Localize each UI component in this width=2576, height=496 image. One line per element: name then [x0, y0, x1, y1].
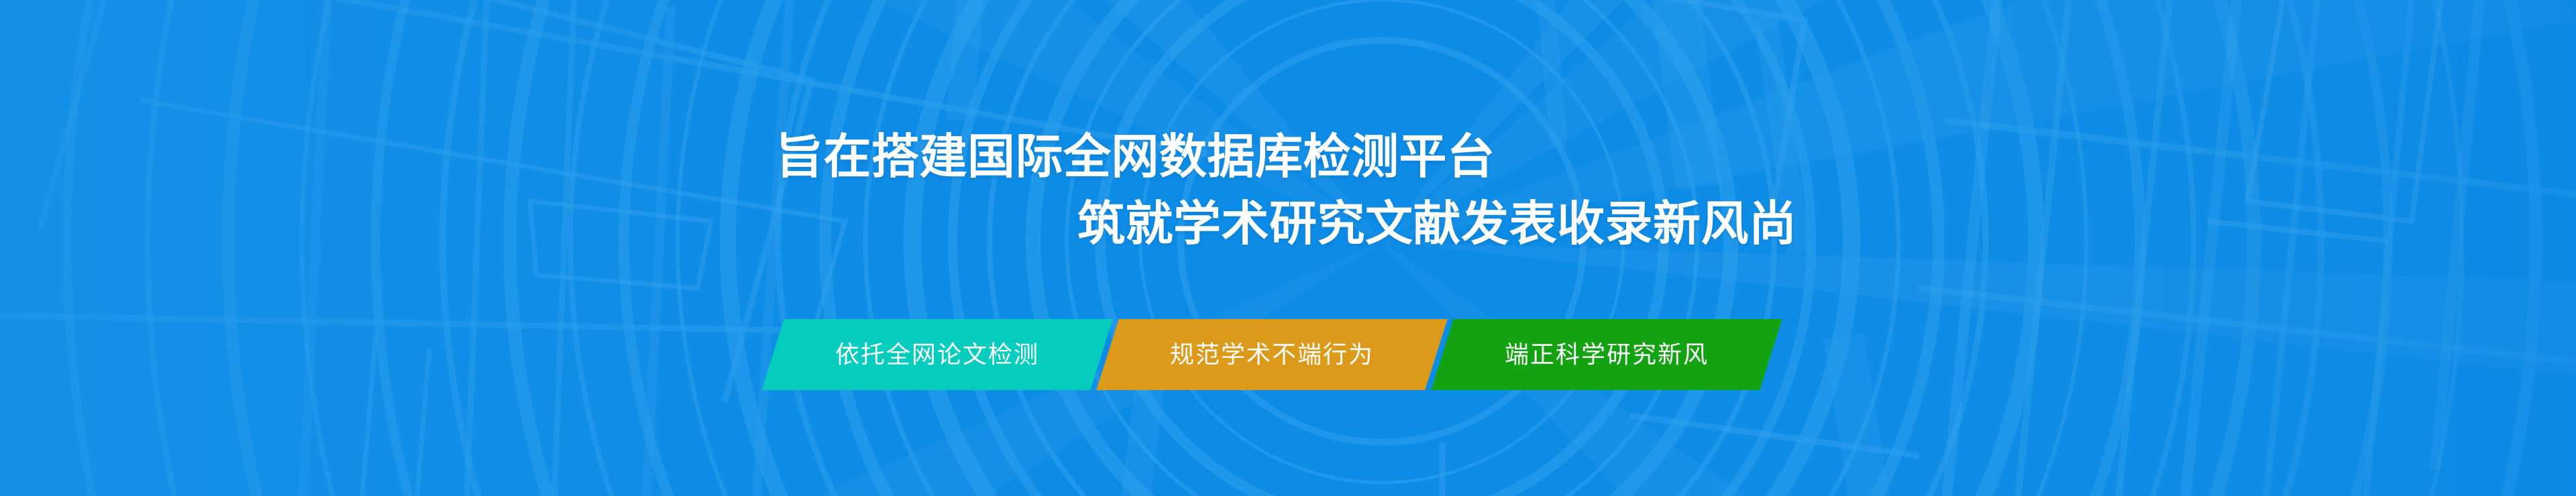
headline-line-2: 筑就学术研究文献发表收录新风尚: [1077, 191, 2576, 258]
feature-badge-academic-misconduct[interactable]: 规范学术不端行为: [1096, 319, 1447, 390]
hero-banner: 旨在搭建国际全网数据库检测平台 筑就学术研究文献发表收录新风尚 依托全网论文检测…: [0, 0, 2576, 496]
feature-badge-paper-detection[interactable]: 依托全网论文检测: [761, 319, 1112, 390]
headline-block: 旨在搭建国际全网数据库检测平台 筑就学术研究文献发表收录新风尚: [0, 124, 2576, 258]
feature-badge-label: 端正科学研究新风: [1505, 343, 1709, 367]
feature-badge-label: 规范学术不端行为: [1170, 343, 1374, 367]
feature-badge-research-integrity[interactable]: 端正科学研究新风: [1431, 319, 1782, 390]
headline-line-1: 旨在搭建国际全网数据库检测平台: [775, 124, 2576, 191]
feature-badge-strip: 依托全网论文检测 规范学术不端行为 端正科学研究新风: [773, 319, 1771, 390]
feature-badge-label: 依托全网论文检测: [835, 343, 1039, 367]
